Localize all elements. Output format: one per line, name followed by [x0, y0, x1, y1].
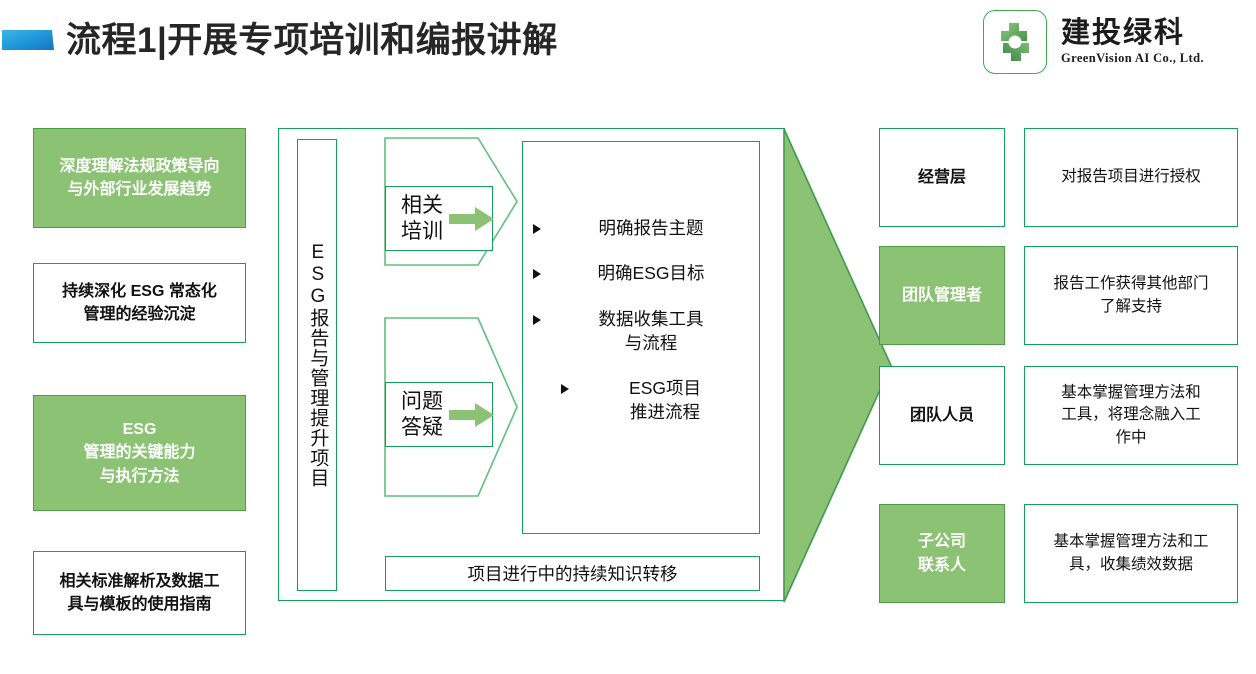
right-desc-1: 报告工作获得其他部门了解支持: [1024, 246, 1238, 345]
right-role-0[interactable]: 经营层: [879, 128, 1005, 227]
right-desc-2-label: 基本掌握管理方法和工具，将理念融入工作中: [1053, 382, 1209, 449]
right-role-3[interactable]: 子公司联系人: [879, 504, 1005, 603]
left-card-3[interactable]: 相关标准解析及数据工具与模板的使用指南: [33, 551, 246, 635]
right-desc-0: 对报告项目进行授权: [1024, 128, 1238, 227]
right-role-3-label: 子公司联系人: [918, 530, 966, 576]
right-role-1[interactable]: 团队管理者: [879, 246, 1005, 345]
right-role-2[interactable]: 团队人员: [879, 366, 1005, 465]
bullet-item-1-label: 明确ESG目标: [553, 262, 749, 286]
bullet-item-2-label: 数据收集工具与流程: [553, 308, 749, 355]
brand-logo: 建投绿科 GreenVision AI Co., Ltd.: [983, 6, 1249, 78]
right-role-0-label: 经营层: [918, 166, 966, 189]
bullet-item-0: 明确报告主题: [533, 217, 749, 241]
triangle-bullet-icon: [533, 315, 541, 325]
left-card-1-label: 持续深化 ESG 常态化管理的经验沉淀: [62, 280, 217, 326]
bullet-item-3-label: ESG项目推进流程: [581, 377, 749, 424]
bullet-item-0-label: 明确报告主题: [553, 217, 749, 241]
left-card-1[interactable]: 持续深化 ESG 常态化管理的经验沉淀: [33, 263, 246, 343]
triangle-bullet-icon: [533, 269, 541, 279]
triangle-bullet-icon: [561, 384, 569, 394]
left-card-2-label: ESG管理的关键能力与执行方法: [83, 418, 195, 488]
header-accent-parallelogram-icon: [2, 28, 54, 52]
brand-name-en: GreenVision AI Co., Ltd.: [1061, 51, 1204, 66]
left-card-0-label: 深度理解法规政策导向与外部行业发展趋势: [59, 155, 219, 201]
chevron-step-2[interactable]: 问题答疑: [384, 317, 518, 497]
left-card-3-label: 相关标准解析及数据工具与模板的使用指南: [59, 570, 219, 616]
right-desc-0-label: 对报告项目进行授权: [1053, 166, 1209, 188]
right-desc-1-label: 报告工作获得其他部门了解支持: [1045, 273, 1216, 318]
green-cross-logo-icon: [983, 10, 1047, 74]
vertical-project-label-box: ESG报告与管理提升项目: [297, 139, 337, 591]
left-card-2[interactable]: ESG管理的关键能力与执行方法: [33, 395, 246, 511]
bullet-item-3: ESG项目推进流程: [533, 377, 749, 424]
vertical-project-label: ESG报告与管理提升项目: [305, 242, 330, 488]
bullets-box: 明确报告主题 明确ESG目标 数据收集工具与流程 ESG项目推进流程: [522, 141, 760, 534]
knowledge-transfer-box: 项目进行中的持续知识转移: [385, 556, 760, 591]
bullet-item-1: 明确ESG目标: [533, 262, 749, 286]
right-arrow-icon: [449, 207, 495, 231]
right-role-1-label: 团队管理者: [902, 284, 982, 307]
right-arrow-icon: [449, 403, 495, 427]
page-header: 流程1|开展专项培训和编报讲解 建投绿科 GreenVision AI Co.,: [0, 0, 1256, 84]
right-desc-3: 基本掌握管理方法和工具，收集绩效数据: [1024, 504, 1238, 603]
bullet-item-2: 数据收集工具与流程: [533, 308, 749, 355]
page-title: 流程1|开展专项培训和编报讲解: [66, 10, 846, 72]
right-desc-3-label: 基本掌握管理方法和工具，收集绩效数据: [1045, 531, 1216, 576]
large-right-chevron-arrow-icon: [783, 128, 893, 603]
left-card-0[interactable]: 深度理解法规政策导向与外部行业发展趋势: [33, 128, 246, 228]
right-role-2-label: 团队人员: [910, 404, 974, 427]
chevron-step-1[interactable]: 相关培训: [384, 137, 518, 266]
triangle-bullet-icon: [533, 224, 541, 234]
knowledge-transfer-label: 项目进行中的持续知识转移: [468, 561, 678, 586]
right-desc-2: 基本掌握管理方法和工具，将理念融入工作中: [1024, 366, 1238, 465]
brand-name-cn: 建投绿科: [1061, 18, 1204, 48]
